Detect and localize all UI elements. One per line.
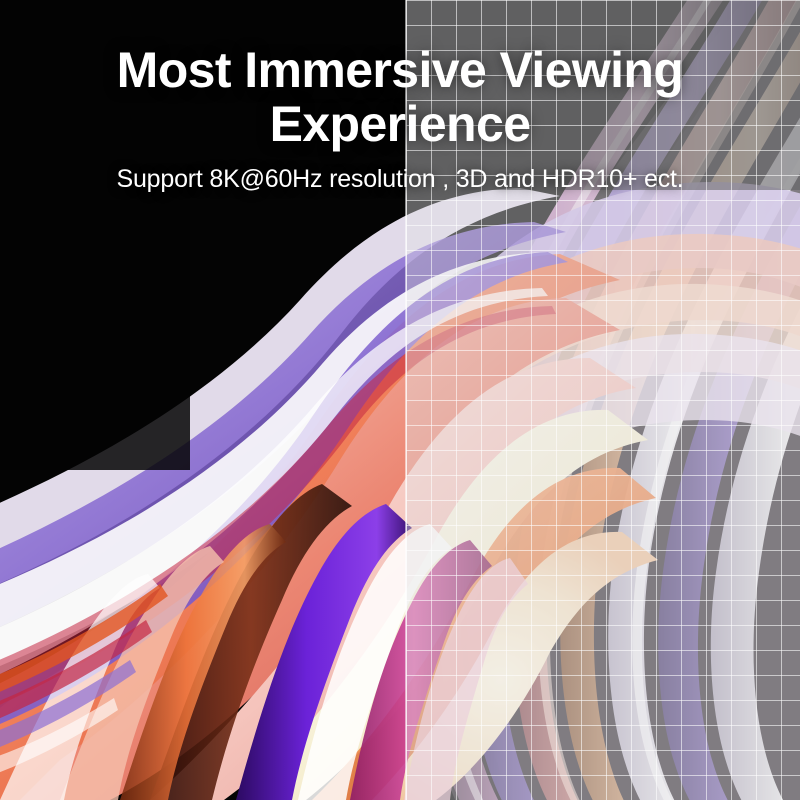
promo-banner: Most Immersive Viewing Experience Suppor…	[0, 0, 800, 800]
abstract-wave-artwork	[0, 0, 800, 800]
